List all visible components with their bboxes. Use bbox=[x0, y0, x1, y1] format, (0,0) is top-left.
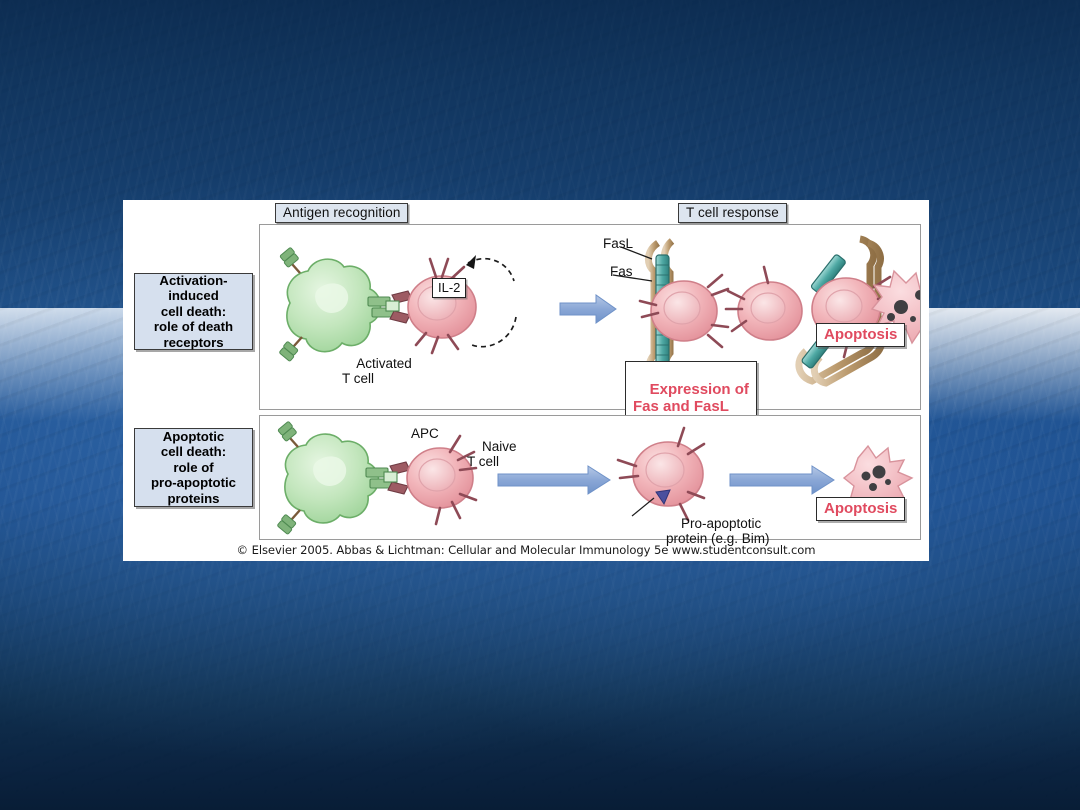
row-label-activation-induced-cell-death: Activation- induced cell death: role of … bbox=[134, 273, 253, 350]
proapoptotic-leader-line bbox=[632, 498, 654, 516]
label-apoptosis-top: Apoptosis bbox=[816, 323, 905, 347]
row-label-apoptotic-cell-death: Apoptotic cell death: role of pro-apopto… bbox=[134, 428, 253, 507]
label-fasl: FasL bbox=[603, 236, 633, 251]
activated-t-cell bbox=[408, 259, 476, 353]
fas-fasl-cell-2 bbox=[726, 267, 802, 340]
row-label-1-text: Activation- induced cell death: role of … bbox=[154, 273, 233, 350]
activated-t-cell-line1: Activated T cell bbox=[342, 356, 412, 386]
figure-card: Antigen recognition T cell response Acti… bbox=[123, 200, 929, 561]
row-label-2-text: Apoptotic cell death: role of pro-apopto… bbox=[151, 429, 236, 506]
antigen-presenting-cell-bottom bbox=[277, 421, 378, 534]
label-activated-t-cell: Activated T cell bbox=[342, 341, 412, 401]
header-antigen-recognition: Antigen recognition bbox=[275, 203, 408, 223]
label-fas: Fas bbox=[610, 264, 633, 279]
label-apoptosis-bottom: Apoptosis bbox=[816, 497, 905, 521]
header-t-cell-response: T cell response bbox=[678, 203, 787, 223]
expression-text: Expression of Fas and FasL bbox=[633, 381, 749, 415]
il2-arrowhead bbox=[466, 255, 476, 269]
arrow-proapoptotic-to-apoptosis bbox=[730, 466, 834, 494]
naive-t-cell-text: Naive T cell bbox=[467, 439, 517, 469]
naive-t-cell bbox=[407, 436, 476, 524]
arrow-to-t-cell-response-top bbox=[560, 295, 616, 323]
panel-apoptotic-cell-death bbox=[259, 415, 921, 540]
label-il2: IL-2 bbox=[432, 278, 466, 298]
apoptotic-illustration bbox=[260, 416, 921, 540]
credit-line: © Elsevier 2005. Abbas & Lichtman: Cellu… bbox=[123, 543, 929, 557]
label-naive-t-cell: Naive T cell bbox=[467, 424, 517, 484]
pro-apoptotic-protein-text: Pro-apoptotic protein (e.g. Bim) bbox=[666, 516, 770, 546]
label-apc: APC bbox=[411, 426, 439, 441]
